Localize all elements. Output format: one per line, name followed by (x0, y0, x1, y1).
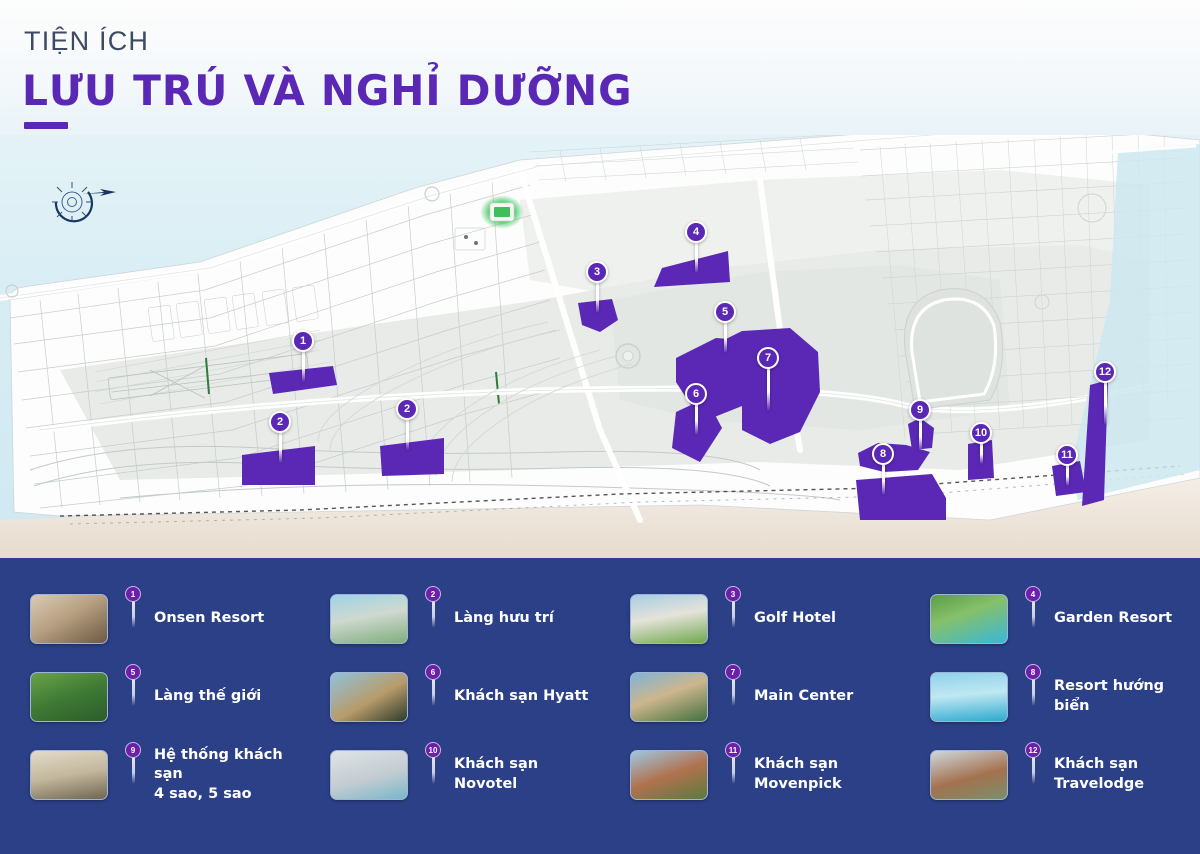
legend-item-label: Hệ thống khách sạn 4 sao, 5 sao (154, 746, 300, 805)
legend-item-6[interactable]: 6Khách sạn Hyatt (300, 658, 600, 736)
legend-pin-number: 6 (425, 664, 441, 680)
map-marker-6[interactable]: 6 (685, 383, 707, 405)
legend-pin-3: 3 (725, 586, 741, 602)
legend-pin-number: 9 (125, 742, 141, 758)
map-marker-stem (695, 403, 698, 435)
map-marker-number: 1 (292, 330, 314, 352)
legend-pin-stem (432, 678, 435, 706)
legend-item-label: Khách sạn Novotel (454, 755, 600, 794)
map-marker-11[interactable]: 11 (1056, 444, 1078, 466)
legend-pin-stem (1032, 678, 1035, 706)
legend-pin-stem (132, 678, 135, 706)
map-marker-stem (1066, 464, 1069, 486)
page-subtitle: TIỆN ÍCH (24, 26, 149, 57)
map-marker-2[interactable]: 2 (396, 398, 418, 420)
map-marker-number: 9 (909, 399, 931, 421)
legend-pin-stem (732, 756, 735, 784)
map-marker-stem (767, 367, 770, 411)
legend-item-label: Golf Hotel (754, 609, 836, 629)
map-marker-4[interactable]: 4 (685, 221, 707, 243)
retirement-village-photo (330, 594, 408, 644)
map-marker-number: 10 (970, 422, 992, 444)
legend-item-label: Làng hưu trí (454, 609, 554, 629)
legend-item-label: Resort hướng biển (1054, 677, 1200, 716)
movenpick-hotel-photo (630, 750, 708, 800)
legend-pin-stem (1032, 600, 1035, 628)
map-marker-stem (1104, 381, 1107, 425)
map-marker-stem (980, 442, 983, 464)
garden-pool-photo (930, 594, 1008, 644)
legend-item-label: Khách sạn Movenpick (754, 755, 900, 794)
legend-pin-number: 12 (1025, 742, 1041, 758)
legend-item-label: Garden Resort (1054, 609, 1172, 629)
map-marker-stem (279, 431, 282, 463)
legend-pin-4: 4 (1025, 586, 1041, 602)
legend-pin-12: 12 (1025, 742, 1041, 758)
legend-pin-2: 2 (425, 586, 441, 602)
map-marker-3[interactable]: 3 (586, 261, 608, 283)
page-title: LƯU TRÚ VÀ NGHỈ DƯỠNG (22, 66, 632, 115)
map-marker-number: 7 (757, 347, 779, 369)
legend-pin-number: 7 (725, 664, 741, 680)
legend-pin-number: 3 (725, 586, 741, 602)
legend-item-label: Onsen Resort (154, 609, 264, 629)
legend-item-5[interactable]: 5Làng thế giới (0, 658, 300, 736)
map-marker-number: 11 (1056, 444, 1078, 466)
masterplan-amenities-page: 1223456789101112 TIỆN ÍCH LƯU TRÚ VÀ NGH… (0, 0, 1200, 854)
legend-pin-stem (1032, 756, 1035, 784)
map-marker-10[interactable]: 10 (970, 422, 992, 444)
map-marker-7[interactable]: 7 (757, 347, 779, 369)
compass-rose-icon (42, 172, 122, 232)
legend-item-label: Khách sạn Hyatt (454, 687, 588, 707)
map-marker-number: 4 (685, 221, 707, 243)
map-marker-number: 2 (269, 411, 291, 433)
legend-footer: 1Onsen Resort2Làng hưu trí3Golf Hotel4Ga… (0, 558, 1200, 854)
legend-pin-stem (132, 600, 135, 628)
legend-item-2[interactable]: 2Làng hưu trí (300, 580, 600, 658)
legend-pin-number: 4 (1025, 586, 1041, 602)
legend-item-label: Khách sạn Travelodge (1054, 755, 1200, 794)
golf-hotel-photo (630, 594, 708, 644)
map-marker-stem (919, 419, 922, 451)
legend-pin-stem (732, 600, 735, 628)
legend-grid: 1Onsen Resort2Làng hưu trí3Golf Hotel4Ga… (0, 558, 1200, 854)
map-marker-1[interactable]: 1 (292, 330, 314, 352)
legend-pin-stem (432, 600, 435, 628)
map-marker-number: 3 (586, 261, 608, 283)
map-marker-stem (882, 463, 885, 495)
map-marker-stem (724, 321, 727, 353)
legend-pin-8: 8 (1025, 664, 1041, 680)
hyatt-tower-photo (330, 672, 408, 722)
legend-item-1[interactable]: 1Onsen Resort (0, 580, 300, 658)
legend-pin-11: 11 (725, 742, 741, 758)
hotel-lobby-photo (30, 750, 108, 800)
legend-pin-number: 5 (125, 664, 141, 680)
map-marker-number: 2 (396, 398, 418, 420)
legend-pin-stem (432, 756, 435, 784)
main-center-aerial-photo (630, 672, 708, 722)
legend-item-11[interactable]: 11Khách sạn Movenpick (600, 736, 900, 814)
novotel-building-photo (330, 750, 408, 800)
travelodge-building-photo (930, 750, 1008, 800)
beachfront-resort-photo (930, 672, 1008, 722)
map-marker-number: 8 (872, 443, 894, 465)
map-marker-stem (695, 241, 698, 273)
legend-item-7[interactable]: 7Main Center (600, 658, 900, 736)
map-marker-stem (406, 418, 409, 450)
legend-pin-1: 1 (125, 586, 141, 602)
legend-item-8[interactable]: 8Resort hướng biển (900, 658, 1200, 736)
map-marker-12[interactable]: 12 (1094, 361, 1116, 383)
legend-item-3[interactable]: 3Golf Hotel (600, 580, 900, 658)
title-underline (24, 122, 68, 129)
map-marker-number: 12 (1094, 361, 1116, 383)
legend-item-label: Main Center (754, 687, 853, 707)
legend-pin-stem (132, 756, 135, 784)
page-header: TIỆN ÍCH LƯU TRÚ VÀ NGHỈ DƯỠNG (0, 0, 1200, 135)
legend-item-4[interactable]: 4Garden Resort (900, 580, 1200, 658)
legend-pin-number: 8 (1025, 664, 1041, 680)
legend-pin-number: 1 (125, 586, 141, 602)
map-marker-5[interactable]: 5 (714, 301, 736, 323)
legend-pin-stem (732, 678, 735, 706)
legend-item-9[interactable]: 9Hệ thống khách sạn 4 sao, 5 sao (0, 736, 300, 814)
onsen-spa-room-photo (30, 594, 108, 644)
map-marker-number: 6 (685, 383, 707, 405)
legend-item-label: Làng thế giới (154, 687, 261, 707)
legend-pin-9: 9 (125, 742, 141, 758)
legend-item-10[interactable]: 10Khách sạn Novotel (300, 736, 600, 814)
world-village-aerial-photo (30, 672, 108, 722)
legend-pin-6: 6 (425, 664, 441, 680)
map-marker-2[interactable]: 2 (269, 411, 291, 433)
legend-pin-10: 10 (425, 742, 441, 758)
legend-pin-number: 10 (425, 742, 441, 758)
map-marker-8[interactable]: 8 (872, 443, 894, 465)
map-marker-9[interactable]: 9 (909, 399, 931, 421)
legend-item-12[interactable]: 12Khách sạn Travelodge (900, 736, 1200, 814)
map-marker-stem (596, 281, 599, 313)
map-marker-stem (302, 350, 305, 382)
legend-pin-number: 2 (425, 586, 441, 602)
legend-pin-number: 11 (725, 742, 741, 758)
map-marker-number: 5 (714, 301, 736, 323)
legend-pin-7: 7 (725, 664, 741, 680)
legend-pin-5: 5 (125, 664, 141, 680)
